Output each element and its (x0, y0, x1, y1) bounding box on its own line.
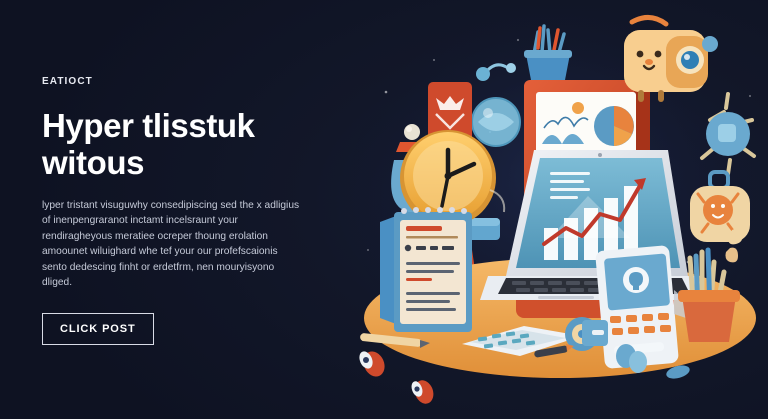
floating-orb-icon (472, 98, 520, 146)
clipboard-icon (380, 207, 472, 332)
click-post-button[interactable]: CLICK POST (42, 313, 154, 345)
hero-text-column: EATIOCT Hyper tlisstuk witous lyper tris… (42, 76, 342, 345)
hero-illustration (338, 0, 768, 419)
body-paragraph: lyper tristant visuguwhy consedipiscing … (42, 198, 300, 291)
hero-banner: EATIOCT Hyper tlisstuk witous lyper tris… (0, 0, 768, 419)
page-title: Hyper tlisstuk witous (42, 107, 312, 182)
spool-icon-2 (410, 378, 437, 407)
spool-icon (357, 348, 389, 380)
floating-sphere-icon (404, 124, 420, 140)
eyebrow-label: EATIOCT (42, 76, 342, 87)
